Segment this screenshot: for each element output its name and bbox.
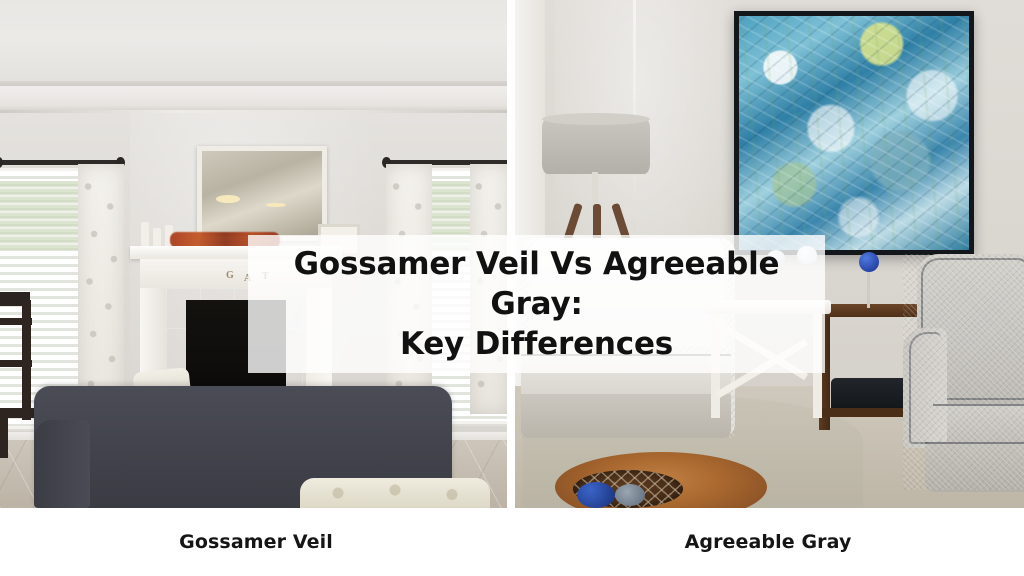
left-ceiling (0, 0, 507, 86)
title-overlay: Gossamer Veil Vs Agreeable Gray: Key Dif… (248, 235, 825, 373)
sofa-arm (34, 420, 90, 508)
armchair-piping (925, 442, 1024, 444)
caption-right-label: Agreeable Gray (685, 531, 852, 553)
caption-left-label: Gossamer Veil (179, 531, 333, 553)
silver-decor-ball (615, 484, 645, 506)
page-title: Gossamer Veil Vs Agreeable Gray: Key Dif… (248, 244, 825, 365)
floor-lamp-shade (542, 118, 650, 174)
comparison-graphic: GAT (0, 0, 1024, 576)
blue-glass-orb (859, 252, 879, 272)
left-soffit (0, 86, 507, 113)
wall-mirror (197, 146, 327, 241)
abstract-painting-canvas (739, 16, 969, 250)
decor-stem (867, 268, 870, 308)
caption-row: Gossamer Veil Agreeable Gray (0, 508, 1024, 576)
caption-gossamer-veil: Gossamer Veil (0, 508, 512, 576)
caption-agreeable-gray: Agreeable Gray (512, 508, 1024, 576)
mantel-candles (140, 222, 174, 248)
white-sofa-base (521, 394, 731, 438)
blue-decor-ball (577, 482, 615, 508)
armchair-piping (933, 404, 1024, 406)
gray-armchair (903, 254, 1024, 490)
abstract-painting-frame (734, 11, 974, 255)
upholstery-texture (903, 254, 1024, 490)
patterned-curtain-panel (78, 164, 124, 414)
patterned-ottoman (300, 478, 490, 508)
